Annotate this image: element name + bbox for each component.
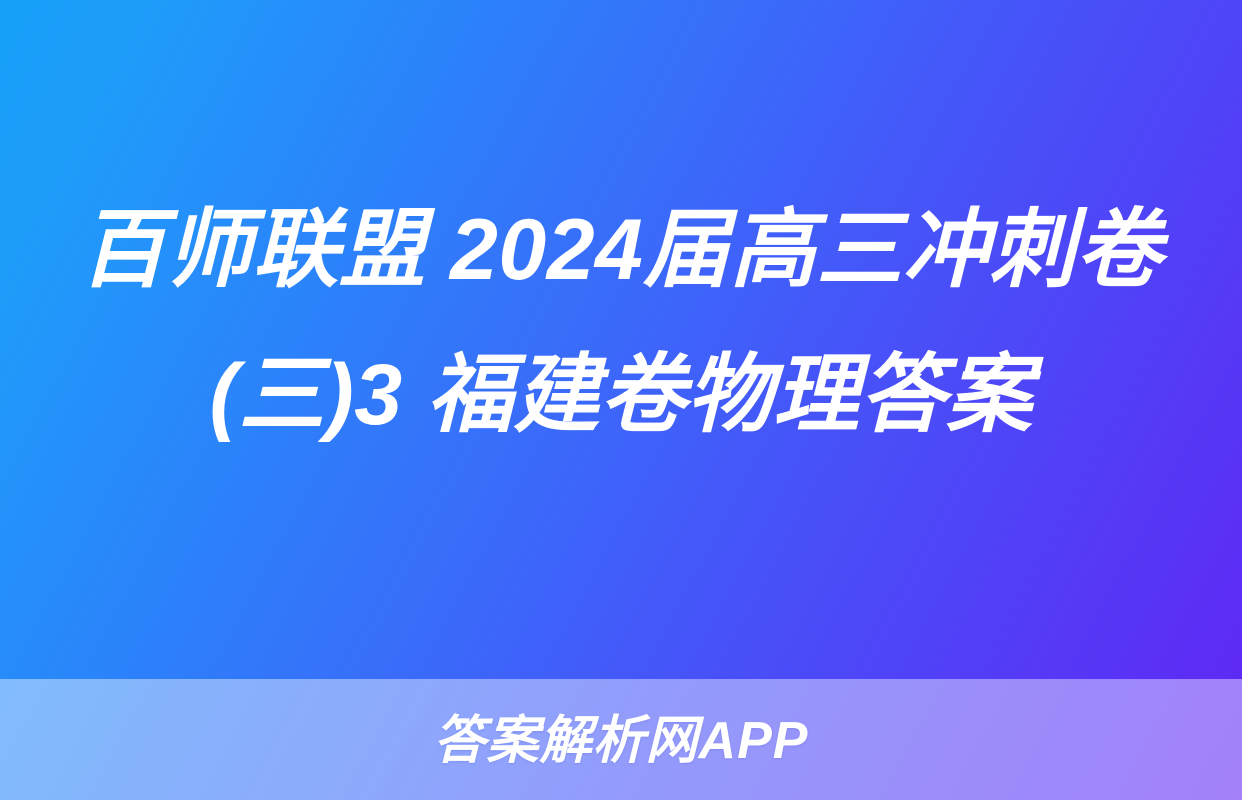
page-title: 百师联盟 2024届高三冲刺卷(三)3 福建卷物理答案 bbox=[62, 178, 1180, 468]
share-card: 百师联盟 2024届高三冲刺卷(三)3 福建卷物理答案 答案解析网APP bbox=[0, 0, 1242, 800]
app-watermark: 答案解析网APP bbox=[0, 705, 1242, 777]
